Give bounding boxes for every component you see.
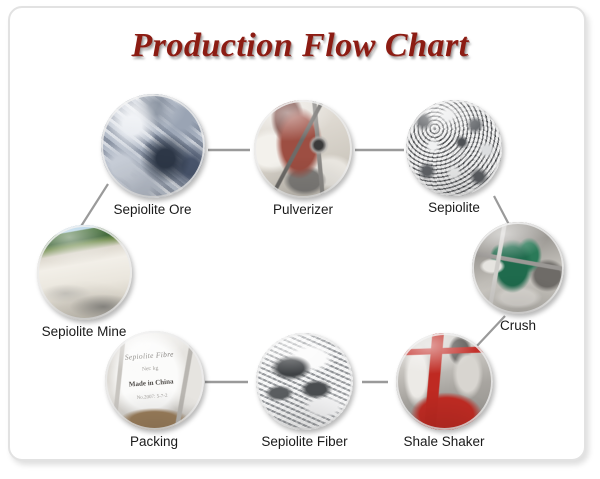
sepiolite-mine-image xyxy=(37,225,132,320)
flow-node-pulverizer[interactable]: Pulverizer xyxy=(249,100,357,218)
packing-image: Sepiolite Fibre Net: kg Made in China No… xyxy=(105,331,204,430)
flow-node-label: Shale Shaker xyxy=(389,434,499,450)
production-flow-chart-page: Production Flow Chart Sepiolite Mine xyxy=(0,0,600,479)
flow-node-sepiolite-mine[interactable]: Sepiolite Mine xyxy=(30,225,138,340)
pulverizer-photo xyxy=(254,100,352,198)
shale-shaker-image xyxy=(396,333,493,430)
crush-image xyxy=(472,222,564,314)
sepiolite-ore-image xyxy=(101,94,205,198)
ore-photo xyxy=(101,94,205,198)
sepiolite-granule-photo xyxy=(406,100,502,196)
flow-node-label: Crush xyxy=(469,318,567,334)
pulverizer-image xyxy=(254,100,352,198)
crusher-photo xyxy=(472,222,564,314)
quarry-photo xyxy=(37,225,132,320)
flow-node-sepiolite-fiber[interactable]: Sepiolite Fiber xyxy=(246,333,363,450)
flow-node-sepiolite[interactable]: Sepiolite xyxy=(402,100,506,216)
flow-node-packing[interactable]: Sepiolite Fibre Net: kg Made in China No… xyxy=(102,331,206,450)
fiber-photo xyxy=(256,333,353,430)
flow-node-shale-shaker[interactable]: Shale Shaker xyxy=(389,333,499,450)
flow-node-sepiolite-ore[interactable]: Sepiolite Ore xyxy=(95,94,210,218)
flow-node-label: Sepiolite Fiber xyxy=(246,434,363,450)
flow-node-crush[interactable]: Crush xyxy=(469,222,567,334)
packing-bags-photo xyxy=(105,331,204,430)
flow-node-label: Packing xyxy=(102,434,206,450)
shale-shaker-photo xyxy=(396,333,493,430)
sepiolite-fiber-image xyxy=(256,333,353,430)
flow-node-label: Sepiolite Ore xyxy=(95,202,210,218)
flow-node-label: Pulverizer xyxy=(249,202,357,218)
sepiolite-image xyxy=(406,100,502,196)
flow-node-label: Sepiolite xyxy=(402,200,506,216)
